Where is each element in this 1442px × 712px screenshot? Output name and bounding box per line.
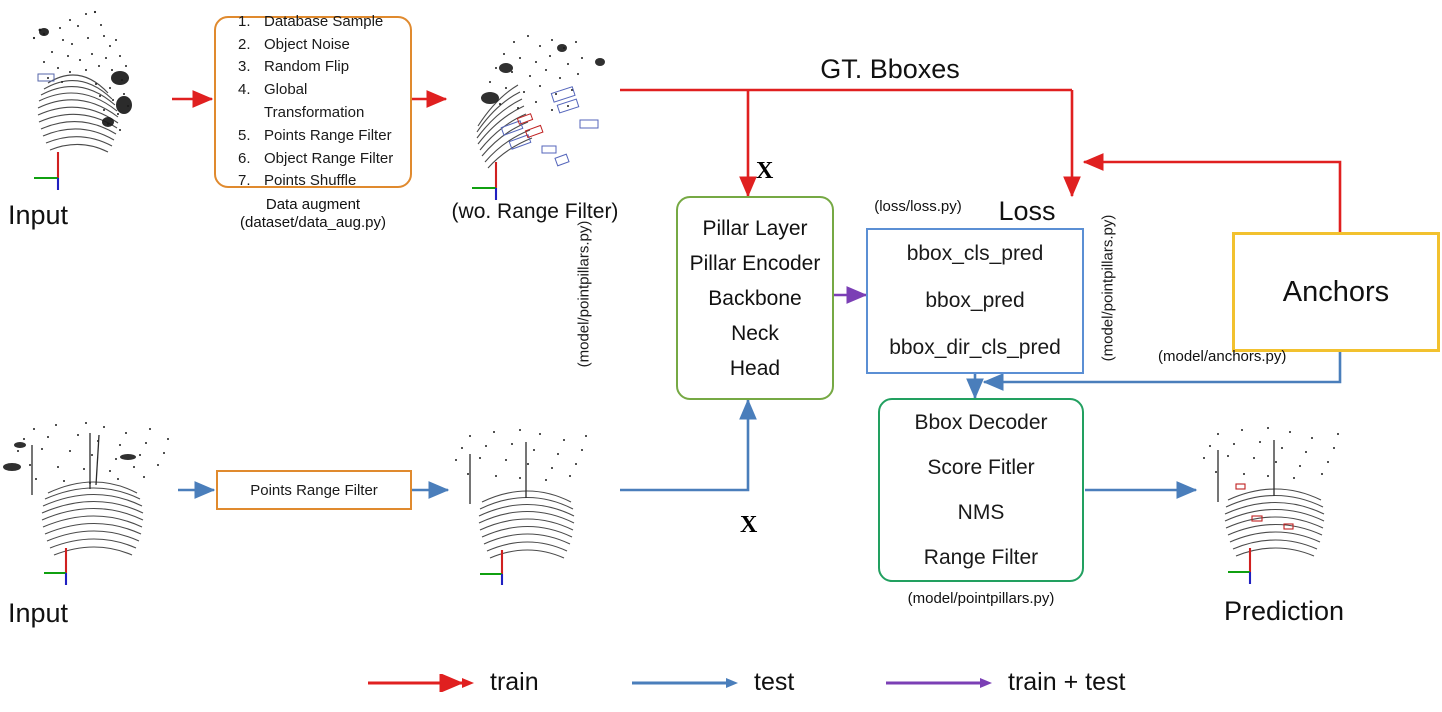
augment-step-label: Global Transformation xyxy=(264,79,384,125)
augment-step-label: Object Range Filter xyxy=(264,148,393,171)
augment-step: 2. Object Noise xyxy=(238,34,410,57)
model-box[interactable]: Pillar Layer Pillar Encoder Backbone Nec… xyxy=(676,196,834,400)
augment-step-label: Points Shuffle xyxy=(264,170,356,193)
model-stage: Neck xyxy=(731,323,779,344)
prediction-label: Prediction xyxy=(1224,596,1424,628)
augment-step-label: Random Flip xyxy=(264,56,349,79)
data-augment-caption-line2: (dataset/data_aug.py) xyxy=(214,214,412,232)
augment-step-number: 6. xyxy=(238,148,264,171)
anchors-box[interactable]: Anchors xyxy=(1232,232,1440,352)
augment-step-list: 1. Database Sample 2. Object Noise 3. Ra… xyxy=(216,11,410,193)
anchors-label: Anchors xyxy=(1283,276,1389,309)
points-range-filter-box[interactable]: Points Range Filter xyxy=(216,470,412,510)
input-train-cloud xyxy=(0,0,190,190)
model-stage: Pillar Layer xyxy=(702,218,807,239)
augment-step-label: Database Sample xyxy=(264,11,383,34)
legend-arrow-train xyxy=(366,674,476,692)
augment-step-number: 2. xyxy=(238,34,264,57)
input-test-cloud xyxy=(0,415,190,585)
augment-step: 5. Points Range Filter xyxy=(238,125,410,148)
postprocess-box[interactable]: Bbox Decoder Score Fitler NMS Range Filt… xyxy=(878,398,1084,582)
augment-step: 1. Database Sample xyxy=(238,11,410,34)
legend-item-train-test: train + test xyxy=(884,668,1125,697)
augment-step-number: 5. xyxy=(238,125,264,148)
prediction-item: bbox_cls_pred xyxy=(907,242,1044,266)
prediction-item: bbox_dir_cls_pred xyxy=(889,336,1061,360)
anchors-caption: (model/anchors.py) xyxy=(1158,348,1338,366)
augment-step-label: Points Range Filter xyxy=(264,125,392,148)
legend-label-train-test: train + test xyxy=(1008,668,1125,697)
legend-arrow-train-test xyxy=(884,674,994,692)
points-range-filter-label: Points Range Filter xyxy=(250,482,378,499)
input-test-label: Input xyxy=(8,598,128,630)
postprocess-caption: (model/pointpillars.py) xyxy=(878,590,1084,608)
model-side-label: (model/pointpillars.py) xyxy=(576,199,593,389)
input-train-label: Input xyxy=(8,200,128,232)
augment-step-number: 1. xyxy=(238,11,264,34)
predictions-side-label: (model/pointpillars.py) xyxy=(1100,193,1117,383)
model-stage: Pillar Encoder xyxy=(690,253,821,274)
augment-step-label: Object Noise xyxy=(264,34,350,57)
augment-step-number: 3. xyxy=(238,56,264,79)
filtered-test-cloud xyxy=(440,420,615,585)
loss-label: Loss xyxy=(982,196,1072,228)
augment-step: 7. Points Shuffle xyxy=(238,170,410,193)
data-augment-caption-line1: Data augment xyxy=(214,196,412,214)
data-augment-caption: Data augment (dataset/data_aug.py) xyxy=(214,196,412,231)
postprocess-item: Range Filter xyxy=(924,546,1038,570)
loss-file-label: (loss/loss.py) xyxy=(858,198,978,216)
diagram-canvas: 1. Database Sample 2. Object Noise 3. Ra… xyxy=(0,0,1442,712)
data-augment-box[interactable]: 1. Database Sample 2. Object Noise 3. Ra… xyxy=(214,16,412,188)
augment-step: 3. Random Flip xyxy=(238,56,410,79)
legend-item-test: test xyxy=(630,668,794,697)
legend-arrow-test xyxy=(630,674,740,692)
prediction-cloud xyxy=(1190,420,1370,585)
gt-bboxes-label: GT. Bboxes xyxy=(760,54,1020,86)
x-marker-train: X xyxy=(756,158,773,185)
postprocess-item: Bbox Decoder xyxy=(914,411,1047,435)
augment-step-number: 4. xyxy=(238,79,264,125)
legend-label-test: test xyxy=(754,668,794,697)
augment-step: 4. Global Transformation xyxy=(238,79,410,125)
model-stage: Backbone xyxy=(708,288,801,309)
postprocess-item: Score Fitler xyxy=(927,456,1034,480)
x-marker-test: X xyxy=(740,512,757,539)
augment-step: 6. Object Range Filter xyxy=(238,148,410,171)
predictions-box[interactable]: bbox_cls_pred bbox_pred bbox_dir_cls_pre… xyxy=(866,228,1084,374)
augmented-cloud-caption: (wo. Range Filter) xyxy=(440,200,630,225)
postprocess-item: NMS xyxy=(958,501,1005,525)
prediction-item: bbox_pred xyxy=(925,289,1024,313)
model-stage: Head xyxy=(730,358,780,379)
legend-item-train: train xyxy=(366,668,539,697)
augment-step-number: 7. xyxy=(238,170,264,193)
legend-label-train: train xyxy=(490,668,539,697)
augmented-cloud xyxy=(440,20,620,200)
